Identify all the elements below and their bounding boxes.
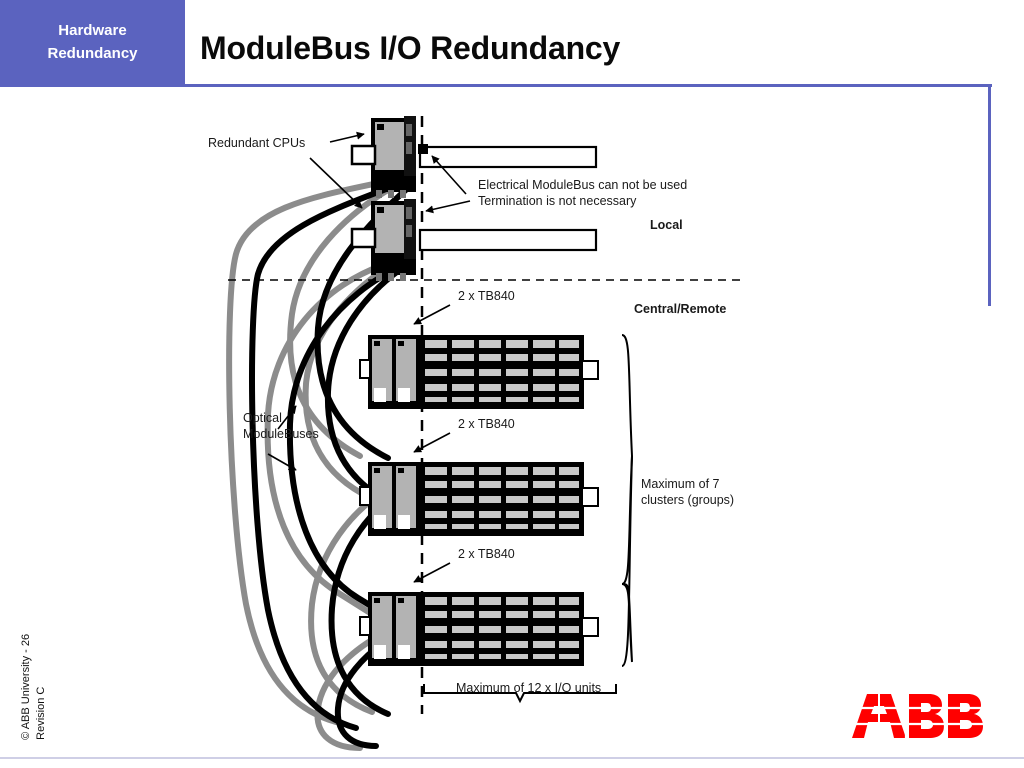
io-cluster-2 [360,462,598,536]
section-label-text: Hardware Redundancy [47,19,137,66]
label-tb840-3: 2 x TB840 [458,547,515,561]
electrical-modulebus-bar-2 [420,230,596,250]
modulebus-redundancy-diagram: Redundant CPUs Electrical ModuleBus can … [0,84,1024,756]
label-max-clusters-line1: Maximum of 7 [641,477,720,491]
leader-tb840-1 [414,305,450,324]
label-local: Local [650,218,683,232]
abb-logo [850,692,985,740]
label-electrical-note-line2: Termination is not necessary [478,194,637,208]
copyright-notice: © ABB University - 26 Revision C [19,580,49,740]
label-central-remote: Central/Remote [634,302,726,316]
leader-redundant-cpus-1 [330,134,364,142]
electrical-modulebus-bar-1 [420,147,596,167]
io-cluster-3 [360,592,598,666]
label-optical-modulebuses-line2: ModuleBuses [243,427,319,441]
label-tb840-2: 2 x TB840 [458,417,515,431]
leader-tb840-3 [414,563,450,582]
page-title: ModuleBus I/O Redundancy [200,30,620,67]
leader-redundant-cpus-2 [310,158,362,208]
label-tb840-1: 2 x TB840 [458,289,515,303]
label-redundant-cpus: Redundant CPUs [208,136,305,150]
leader-electrical-note-2 [426,201,470,211]
leader-tb840-2 [414,433,450,452]
slide-header: Hardware Redundancy ModuleBus I/O Redund… [0,0,1024,84]
label-optical-modulebuses-line1: Optical [243,411,282,425]
label-max-clusters-line2: clusters (groups) [641,493,734,507]
io-cluster-1 [360,335,598,409]
footer-divider [0,757,1024,759]
label-electrical-note-line1: Electrical ModuleBus can not be used [478,178,687,192]
label-max-io-units: Maximum of 12 x I/O units [456,681,601,695]
section-label-block: Hardware Redundancy [0,0,185,84]
